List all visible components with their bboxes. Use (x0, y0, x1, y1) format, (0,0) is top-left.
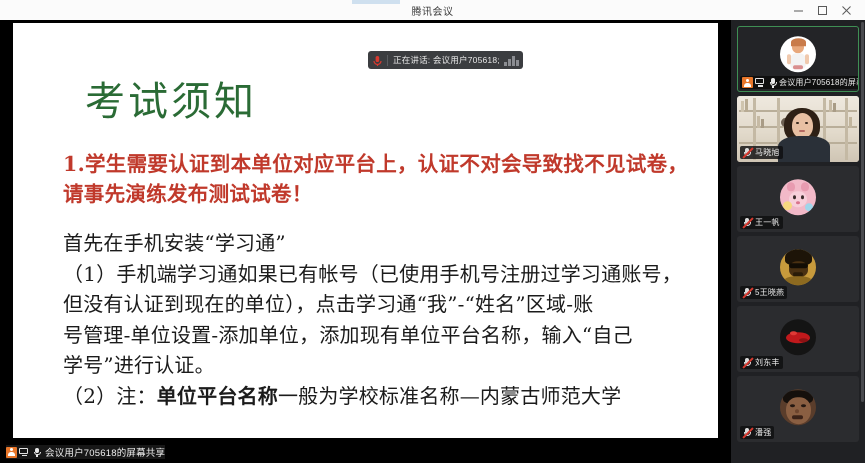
tencent-meeting-window: 腾讯会议 考试须知 1.学生需要认证到本单位对应平台上，认证不对会导致找不见试卷… (0, 0, 865, 463)
note-suffix: 一般为学校标准名称—内蒙古师范大学 (278, 384, 621, 408)
slide-warning-text: 1.学生需要认证到本单位对应平台上，认证不对会导致找不见试卷， 请事先演练发布测… (63, 149, 713, 209)
participant-label-2: 马晓旭 (740, 146, 783, 159)
screen-share-status-chip: 会议用户705618的屏幕共享 (6, 445, 165, 459)
speaking-divider (387, 55, 388, 66)
participant-label-6: 潘强 (740, 426, 774, 439)
speaking-text: 正在讲话: 会议用户705618; (393, 54, 500, 66)
participants-scrollbar[interactable] (861, 22, 864, 461)
bottom-status-bar: 会议用户705618的屏幕共享 (0, 441, 731, 463)
window-titlebar: 腾讯会议 (0, 0, 865, 21)
participant-tile-6[interactable]: 潘强 (737, 376, 859, 442)
participant-tile-4[interactable]: 5王晓燕 (737, 236, 859, 302)
avatar (780, 249, 816, 285)
mic-muted-icon (742, 147, 753, 158)
participant-name-1: 会议用户705618的屏幕共享 (779, 77, 859, 88)
minimize-button[interactable] (787, 2, 809, 18)
participant-name-5: 刘东丰 (755, 357, 780, 368)
close-icon (842, 6, 851, 15)
participant-name-2: 马晓旭 (755, 147, 780, 158)
slide-body-note: （2）注：单位平台名称一般为学校标准名称—内蒙古师范大学 (63, 381, 718, 412)
maximize-icon (818, 6, 827, 15)
participant-tile-2[interactable]: 马晓旭 (737, 96, 859, 162)
slide-body-line-1: 首先在手机安装“学习通” (63, 228, 718, 259)
participant-sidebar[interactable]: 会议用户705618的屏幕共享 (731, 20, 865, 463)
note-bold: 单位平台名称 (157, 384, 278, 408)
participant-tile-1[interactable]: 会议用户705618的屏幕共享 (737, 26, 859, 92)
window-title: 腾讯会议 (0, 3, 865, 18)
avatar (780, 389, 816, 425)
screen-share-icon (19, 447, 30, 458)
mic-icon (32, 447, 42, 458)
person-orange-icon (742, 77, 753, 88)
mic-muted-icon (742, 287, 753, 298)
avatar (780, 179, 816, 215)
participant-tile-5[interactable]: 刘东丰 (737, 306, 859, 372)
slide-body-line-3: 但没有认证到现在的单位），点击学习通“我”-“姓名”区域-账 (63, 289, 718, 320)
participant-label-5: 刘东丰 (740, 356, 783, 369)
slide-body-line-4: 号管理-单位设置-添加单位，添加现有单位平台名称，输入“自己 (63, 320, 718, 351)
participant-label-1: 会议用户705618的屏幕共享 (740, 76, 859, 89)
scrollbar-thumb[interactable] (861, 22, 864, 402)
screen-share-icon (755, 77, 766, 88)
mic-muted-icon (742, 217, 753, 228)
participant-name-3: 王一帆 (755, 217, 780, 228)
speaking-indicator: 正在讲话: 会议用户705618; (368, 51, 523, 69)
person-orange-icon (6, 447, 17, 458)
slide-body-line-5: 学号”进行认证。 (63, 350, 718, 381)
participant-label-3: 王一帆 (740, 216, 783, 229)
avatar (780, 37, 816, 73)
mic-muted-icon (742, 427, 753, 438)
participant-tile-3[interactable]: 王一帆 (737, 166, 859, 232)
mic-icon (768, 77, 778, 88)
note-prefix: （2）注： (63, 384, 157, 408)
avatar (780, 319, 816, 355)
mic-muted-icon (742, 357, 753, 368)
slide-body-text: 首先在手机安装“学习通” （1）手机端学习通如果已有帐号（已使用手机号注册过学习… (63, 228, 718, 411)
slide-title: 考试须知 (85, 69, 257, 127)
participant-name-6: 潘强 (755, 427, 771, 438)
mic-speaking-icon (372, 54, 383, 66)
minimize-icon (794, 6, 803, 15)
audio-wave-icon (504, 55, 519, 66)
participant-name-4: 5王晓燕 (755, 287, 784, 298)
slide-warning-line-1: 1.学生需要认证到本单位对应平台上，认证不对会导致找不见试卷， (63, 149, 713, 179)
slide-warning-line-2: 请事先演练发布测试试卷！ (63, 179, 713, 209)
presentation-slide: 考试须知 1.学生需要认证到本单位对应平台上，认证不对会导致找不见试卷， 请事先… (13, 23, 718, 438)
participant-label-4: 5王晓燕 (740, 286, 787, 299)
shared-screen-stage: 考试须知 1.学生需要认证到本单位对应平台上，认证不对会导致找不见试卷， 请事先… (0, 20, 731, 441)
slide-body-line-2: （1）手机端学习通如果已有帐号（已使用手机号注册过学习通账号， (63, 259, 718, 290)
close-button[interactable] (835, 2, 857, 18)
screen-share-status-text: 会议用户705618的屏幕共享 (45, 445, 165, 459)
maximize-button[interactable] (811, 2, 833, 18)
